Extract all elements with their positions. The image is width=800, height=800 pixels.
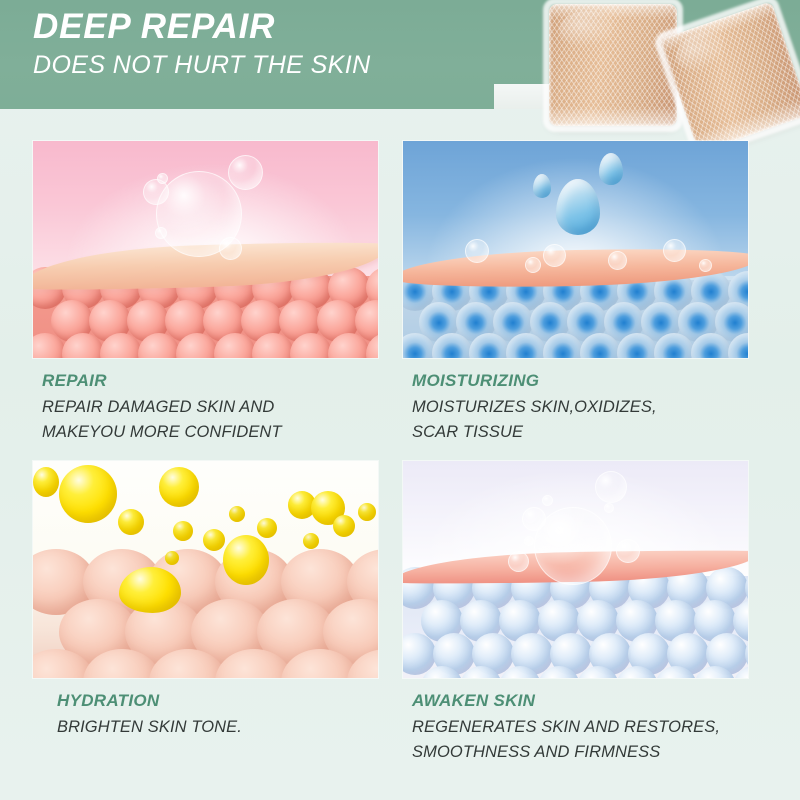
bubble-small-icon: [465, 239, 489, 263]
bubble-small-icon: [608, 251, 627, 270]
oil-droplet-large-icon: [223, 535, 269, 585]
bubble-medium-icon: [228, 155, 263, 190]
feature-heading: MOISTURIZING: [412, 370, 748, 391]
feature-description-line: BRIGHTEN SKIN TONE.: [57, 715, 378, 740]
oil-droplet-icon: [203, 529, 225, 551]
page-subtitle: DOES NOT HURT THE SKIN: [33, 50, 371, 80]
feature-card-hydration: HYDRATION BRIGHTEN SKIN TONE.: [33, 461, 378, 740]
bubble-tiny-icon: [604, 503, 614, 513]
feature-description-line: SCAR TISSUE: [412, 420, 748, 445]
feature-description-line: MAKEYOU MORE CONFIDENT: [42, 420, 378, 445]
bubble-tiny-icon: [699, 259, 712, 272]
oil-droplet-icon: [333, 515, 355, 537]
bubble-tiny-icon: [524, 536, 534, 546]
feature-card-awaken-skin: AWAKEN SKIN REGENERATES SKIN AND RESTORE…: [403, 461, 748, 765]
oil-droplet-spread-icon: [119, 567, 181, 613]
illustration-hydration: [33, 461, 378, 678]
oil-droplet-icon: [358, 503, 376, 521]
illustration-repair: [33, 141, 378, 358]
feature-card-repair: REPAIR REPAIR DAMAGED SKIN AND MAKEYOU M…: [33, 141, 378, 445]
feature-description: MOISTURIZES SKIN,OXIDIZES, SCAR TISSUE: [412, 395, 748, 445]
feature-description-line: REGENERATES SKIN AND RESTORES,: [412, 715, 748, 740]
illustration-moisturizing: [403, 141, 748, 358]
feature-heading: REPAIR: [42, 370, 378, 391]
oil-droplet-icon: [159, 467, 199, 507]
feature-description-line: REPAIR DAMAGED SKIN AND: [42, 395, 378, 420]
bubble-tiny-icon: [542, 495, 553, 506]
soap-bar-front-image: [549, 4, 677, 126]
oil-droplet-icon: [118, 509, 144, 535]
water-drop-medium-icon: [599, 153, 623, 185]
bubble-small-icon: [219, 237, 242, 260]
feature-description-line: SMOOTHNESS AND FIRMNESS: [412, 740, 748, 765]
oil-droplet-icon: [165, 551, 179, 565]
oil-droplet-icon: [303, 533, 319, 549]
feature-description: REPAIR DAMAGED SKIN AND MAKEYOU MORE CON…: [42, 395, 378, 445]
bubble-small-icon: [522, 507, 546, 531]
promo-page: DEEP REPAIR DOES NOT HURT THE SKIN: [0, 0, 800, 800]
feature-card-moisturizing: MOISTURIZING MOISTURIZES SKIN,OXIDIZES, …: [403, 141, 748, 445]
bubble-small-icon: [508, 551, 529, 572]
feature-description: REGENERATES SKIN AND RESTORES, SMOOTHNES…: [412, 715, 748, 765]
water-drop-small-icon: [533, 174, 551, 198]
bubble-medium-icon: [595, 471, 627, 503]
oil-droplet-icon: [257, 518, 277, 538]
bubble-small-icon: [543, 244, 566, 267]
skin-cell-layer: [403, 576, 748, 678]
feature-heading: HYDRATION: [57, 690, 378, 711]
oil-droplet-icon: [173, 521, 193, 541]
skin-cell-layer: [403, 280, 748, 358]
illustration-awaken-skin: [403, 461, 748, 678]
oil-droplet-icon: [33, 467, 59, 497]
bubble-small-icon: [663, 239, 686, 262]
oil-droplet-icon: [229, 506, 245, 522]
skin-cell-surface: [33, 565, 378, 678]
oil-droplet-icon: [59, 465, 117, 523]
bubble-tiny-icon: [157, 173, 168, 184]
feature-heading: AWAKEN SKIN: [412, 690, 748, 711]
bubble-tiny-icon: [525, 257, 541, 273]
feature-description-line: MOISTURIZES SKIN,OXIDIZES,: [412, 395, 748, 420]
bubble-tiny-icon: [155, 227, 167, 239]
page-title: DEEP REPAIR: [33, 7, 275, 47]
feature-description: BRIGHTEN SKIN TONE.: [57, 715, 378, 740]
bubble-small-icon: [616, 539, 640, 563]
